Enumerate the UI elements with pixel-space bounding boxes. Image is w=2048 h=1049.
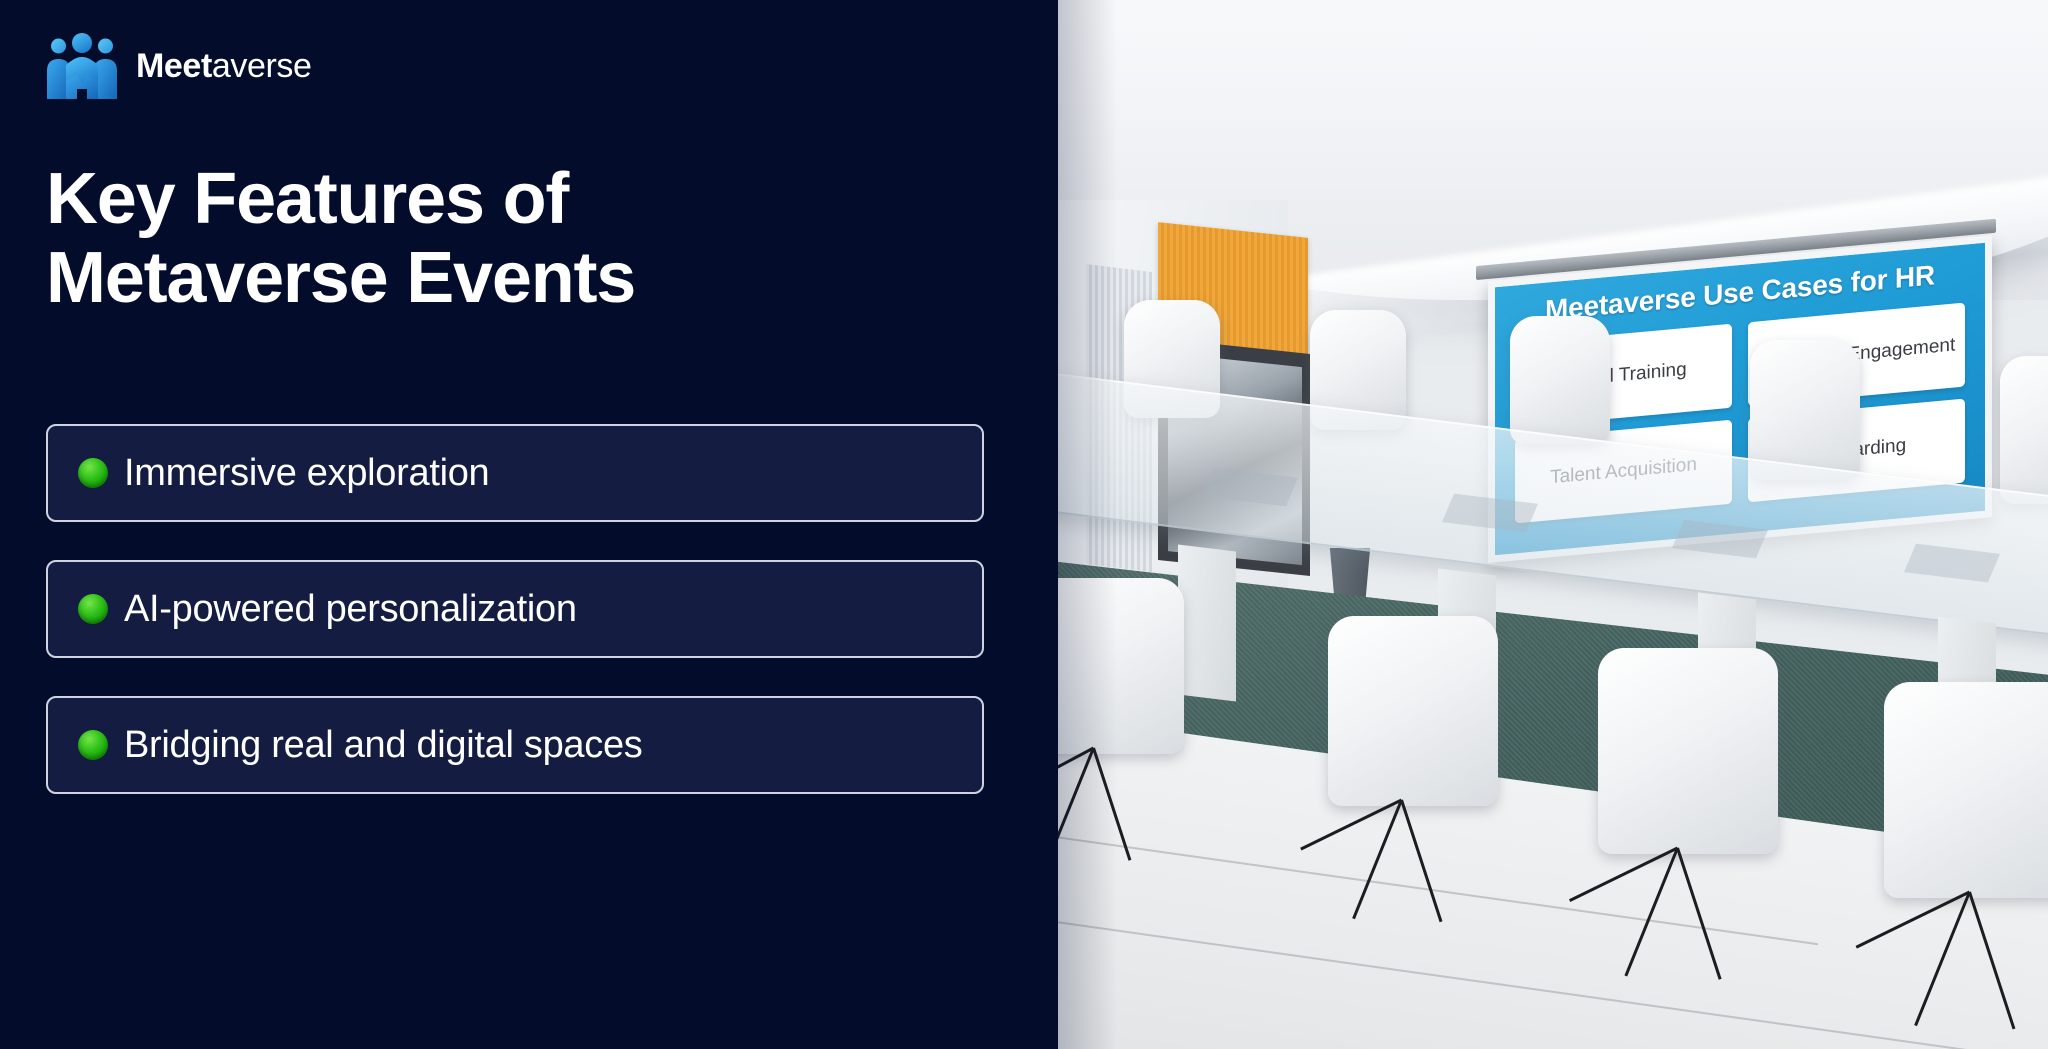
page-title-line-2: Metaverse Events [46, 239, 946, 318]
feature-list: Immersive exploration AI-powered persona… [46, 424, 984, 794]
page-title: Key Features of Metaverse Events [46, 160, 946, 318]
green-circle-icon [78, 458, 108, 488]
brand-wordmark: Meetaverse [136, 47, 312, 86]
green-circle-icon [78, 730, 108, 760]
feature-card-1[interactable]: Immersive exploration [46, 424, 984, 522]
virtual-meeting-room-image: Meetaverse Use Cases for HR Virtual Trai… [1058, 0, 2048, 1049]
left-content-panel: Meetaverse Key Features of Metaverse Eve… [0, 0, 1058, 1049]
brand-name-light: averse [212, 47, 312, 85]
brand-logo[interactable]: Meetaverse [46, 33, 312, 99]
feature-card-2[interactable]: AI-powered personalization [46, 560, 984, 658]
feature-label-3: Bridging real and digital spaces [124, 724, 643, 767]
meetaverse-m-logo-icon [46, 33, 118, 99]
slide-root: Meetaverse Key Features of Metaverse Eve… [0, 0, 2048, 1049]
feature-label-1: Immersive exploration [124, 452, 489, 495]
table-leg [1178, 544, 1236, 701]
page-title-line-1: Key Features of [46, 160, 946, 239]
feature-label-2: AI-powered personalization [124, 588, 577, 631]
green-circle-icon [78, 594, 108, 624]
room-scene: Meetaverse Use Cases for HR Virtual Trai… [1058, 0, 2048, 1049]
feature-card-3[interactable]: Bridging real and digital spaces [46, 696, 984, 794]
brand-name-bold: Meet [136, 47, 212, 85]
